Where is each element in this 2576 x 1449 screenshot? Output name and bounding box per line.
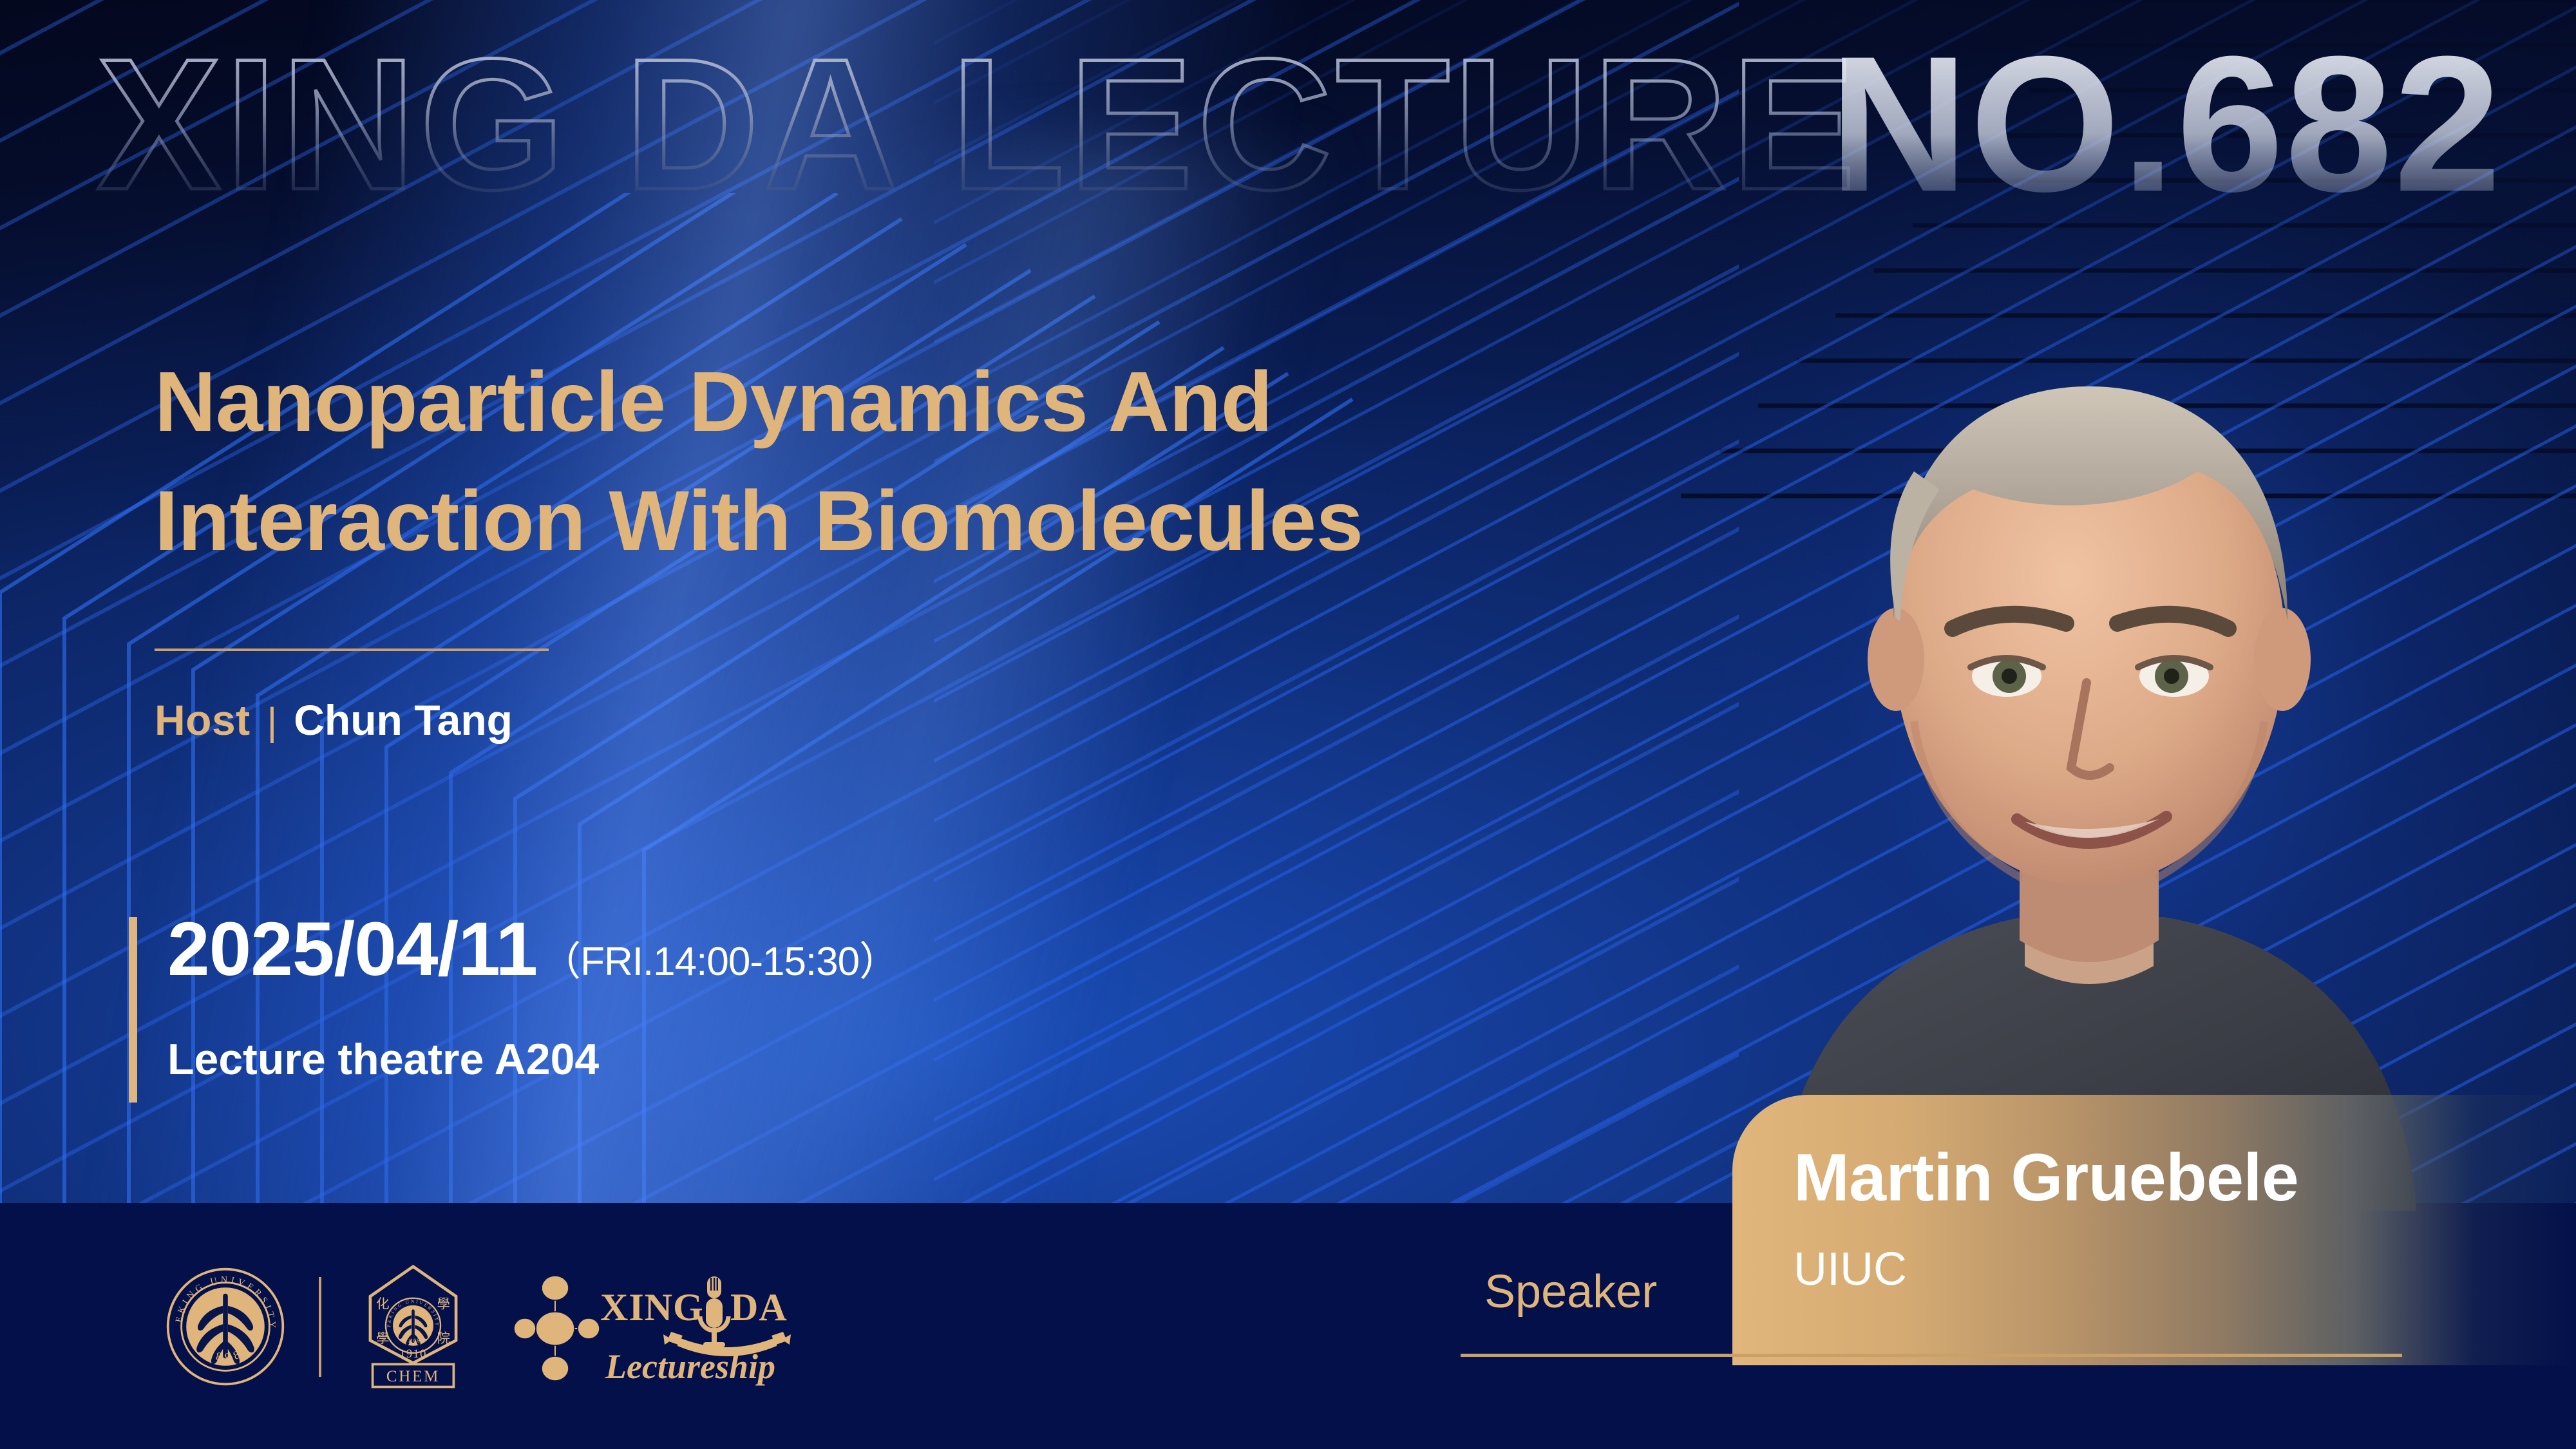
logo-divider [319, 1277, 321, 1377]
lecture-title-line-1: Nanoparticle Dynamics And [155, 343, 1636, 462]
logo-strip: PEKING UNIVERSITY 1898 [164, 1262, 820, 1391]
lecture-number: NO.682 [1829, 15, 2503, 232]
host-label: Host [155, 696, 251, 744]
speaker-name: Martin Gruebele [1794, 1140, 2298, 1217]
lecture-time: （FRI.14:00-15:30） [541, 929, 898, 987]
chem-char-bottom-left: 學 [376, 1331, 389, 1346]
peking-university-seal-icon: PEKING UNIVERSITY 1898 [164, 1265, 287, 1388]
chem-char-top-left: 化 [376, 1296, 389, 1311]
poster-header: XING DA LECTURE NO.682 [97, 24, 2531, 224]
speaker-panel [1732, 1095, 2576, 1365]
schedule-block: 2025/04/11 （FRI.14:00-15:30） Lecture the… [129, 917, 1352, 1130]
host-name: Chun Tang [294, 696, 513, 744]
speaker-label: Speaker [1484, 1265, 1657, 1318]
chem-founding-year: 1910 [399, 1348, 427, 1361]
host-row: Host | Chun Tang [155, 696, 513, 744]
xingda-word-bottom: Lectureship [605, 1347, 775, 1386]
chem-abbreviation: CHEM [386, 1368, 440, 1385]
lecture-title-line-2: Interaction With Biomolecules [155, 462, 1636, 581]
series-title: XING DA LECTURE [97, 20, 1860, 229]
host-separator: | [267, 699, 278, 744]
xingda-word-right: DA [730, 1286, 788, 1329]
xingda-word-left: XING [600, 1286, 704, 1329]
lecture-venue: Lecture theatre A204 [167, 1034, 599, 1084]
lecture-title: Nanoparticle Dynamics And Interaction Wi… [155, 343, 1636, 581]
speaker-underline [1461, 1354, 2402, 1357]
chem-char-top-right: 學 [437, 1296, 450, 1311]
date-row: 2025/04/11 （FRI.14:00-15:30） [167, 905, 898, 993]
schedule-accent-bar [129, 917, 137, 1103]
lecture-date: 2025/04/11 [167, 905, 537, 993]
pku-chemistry-logo-icon: PEKING UNIVERSITY 1898 化 學 學 院 1910 CHEM [354, 1264, 473, 1390]
speaker-affiliation: UIUC [1794, 1243, 1907, 1296]
speaker-portrait [1700, 296, 2473, 1211]
xingda-lectureship-logo-icon: XING DA [518, 1267, 820, 1387]
chem-char-bottom-right: 院 [437, 1331, 450, 1346]
lecture-poster: XING DA LECTURE NO.682 [0, 0, 2576, 1449]
title-divider [155, 649, 549, 651]
